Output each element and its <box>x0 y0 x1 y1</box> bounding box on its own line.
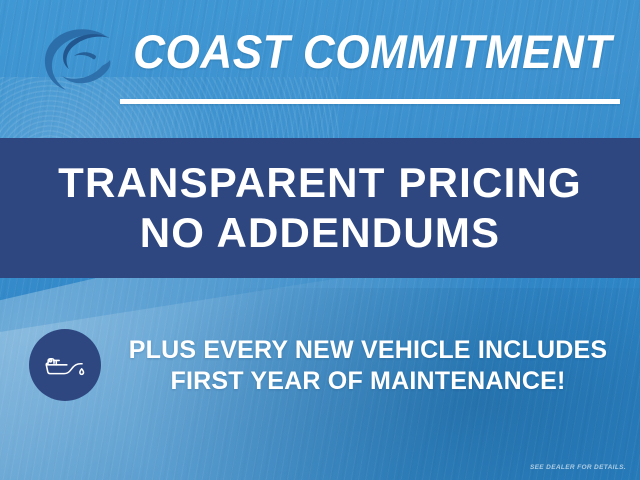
oil-can-icon-badge <box>29 329 101 401</box>
pricing-banner-line-2: NO ADDENDUMS <box>140 211 501 255</box>
promo-row: PLUS EVERY NEW VEHICLE INCLUDES FIRST YE… <box>0 325 640 405</box>
header: COAST COMMITMENT <box>0 0 640 120</box>
coast-wave-logo-icon <box>36 22 122 96</box>
disclaimer-text: SEE DEALER FOR DETAILS. <box>530 464 626 471</box>
header-divider <box>120 99 620 104</box>
promo-line-1: PLUS EVERY NEW VEHICLE INCLUDES <box>129 336 608 364</box>
promo-line-2: FIRST YEAR OF MAINTENANCE! <box>170 367 565 395</box>
pricing-banner-line-1: TRANSPARENT PRICING <box>58 161 582 205</box>
oil-can-icon <box>43 350 87 380</box>
promo-text: PLUS EVERY NEW VEHICLE INCLUDES FIRST YE… <box>108 325 628 405</box>
page-title: COAST COMMITMENT <box>135 22 610 80</box>
pricing-banner: TRANSPARENT PRICING NO ADDENDUMS <box>0 138 640 278</box>
